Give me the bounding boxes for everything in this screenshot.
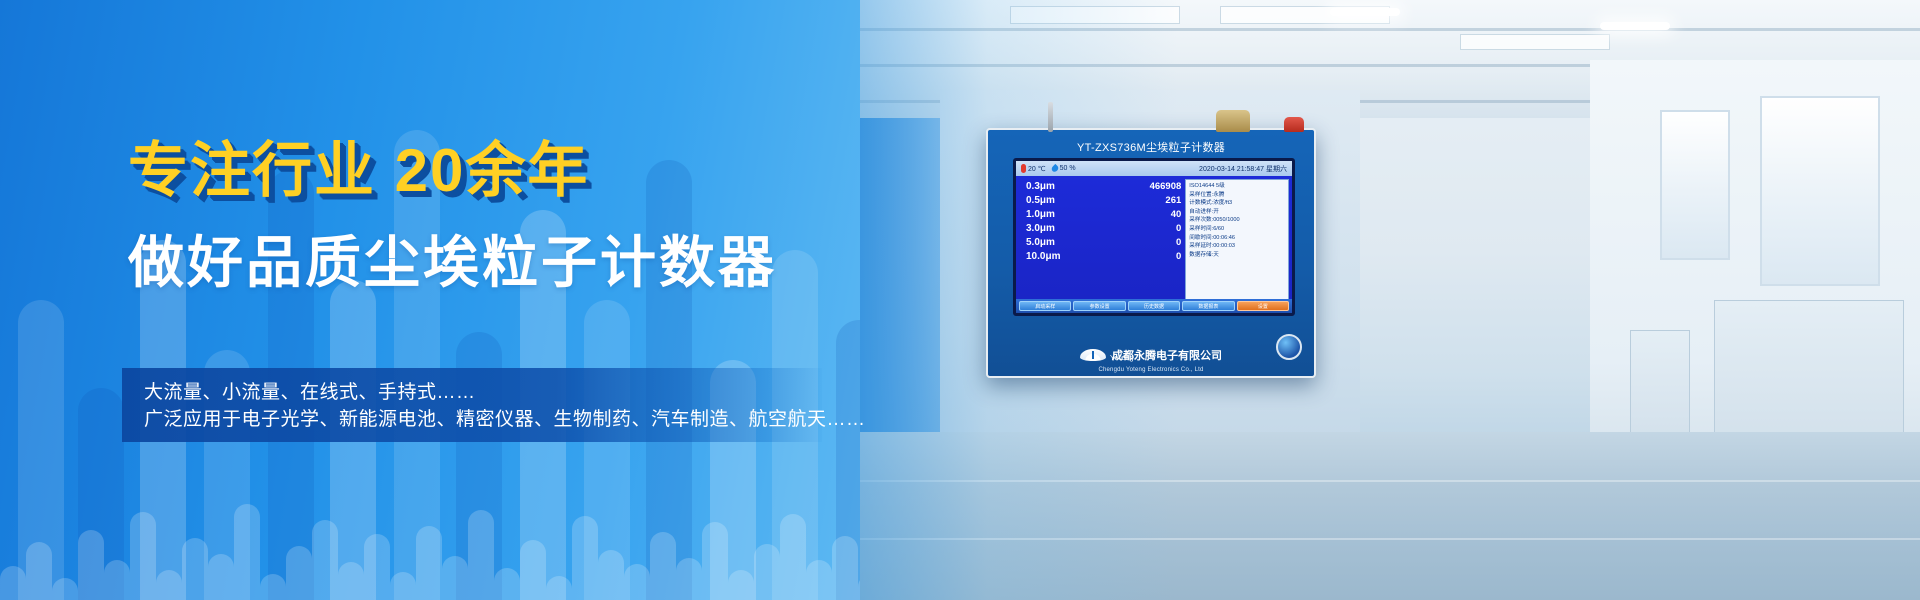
info-panel-row: 采样时间:6/60 bbox=[1189, 225, 1285, 234]
info-panel-row: ISO14644 5级 bbox=[1189, 182, 1285, 191]
particle-count-value: 40 bbox=[1171, 209, 1182, 220]
datetime-readout: 2020-03-14 21:58:47 星期六 bbox=[1199, 164, 1287, 174]
equalizer-bar bbox=[338, 562, 364, 600]
humidity-readout: 50 % bbox=[1052, 165, 1076, 172]
equalizer-bar bbox=[676, 558, 702, 600]
particle-table: 0.3μm4669080.5μm2611.0μm403.0μm05.0μm010… bbox=[1016, 176, 1185, 313]
particle-size-label: 3.0μm bbox=[1026, 223, 1055, 234]
equalizer-bar bbox=[260, 574, 286, 600]
info-line-1: 大流量、小流量、在线式、手持式…… bbox=[144, 379, 822, 406]
particle-size-label: 0.3μm bbox=[1026, 181, 1055, 192]
equalizer-bar bbox=[780, 514, 806, 600]
equalizer-bar bbox=[130, 512, 156, 600]
equalizer-bar bbox=[78, 530, 104, 600]
equalizer-bar bbox=[312, 520, 338, 600]
measurement-info-panel: ISO14644 5级采样位置:永腾计数模式:浓度/ft3自动进样:开采样次数:… bbox=[1185, 179, 1289, 313]
yoteng-logo-icon bbox=[1080, 349, 1106, 361]
device-model-title: YT-ZXS736M尘埃粒子计数器 bbox=[988, 139, 1314, 155]
probe-antenna-icon bbox=[1048, 102, 1053, 132]
equalizer-bar bbox=[598, 550, 624, 600]
equalizer-bar bbox=[182, 538, 208, 600]
equalizer-bar bbox=[520, 540, 546, 600]
brand-logo-text: Yoteng bbox=[1110, 355, 1134, 362]
equalizer-bar bbox=[442, 556, 468, 600]
temperature-readout: 20 ℃ bbox=[1021, 164, 1046, 173]
equalizer-bar bbox=[156, 570, 182, 600]
equalizer-bar bbox=[468, 510, 494, 600]
particle-count-value: 0 bbox=[1176, 223, 1181, 234]
equalizer-bar bbox=[208, 554, 234, 600]
particle-count-value: 0 bbox=[1176, 237, 1181, 248]
screen-toolbar[interactable]: 启动采样参数设置历史数据数据报表设置 bbox=[1016, 299, 1292, 313]
equalizer-bar bbox=[494, 568, 520, 600]
info-line-2: 广泛应用于电子光学、新能源电池、精密仪器、生物制药、汽车制造、航空航天…… bbox=[144, 406, 822, 433]
equalizer-bar bbox=[234, 504, 260, 600]
equalizer-bar bbox=[546, 576, 572, 600]
equalizer-bar bbox=[832, 536, 858, 600]
equalizer-bar bbox=[286, 546, 312, 600]
equalizer-bar bbox=[0, 566, 26, 600]
equalizer-bar bbox=[416, 526, 442, 600]
equalizer-bar bbox=[754, 544, 780, 600]
particle-size-label: 0.5μm bbox=[1026, 195, 1055, 206]
particle-row: 1.0μm40 bbox=[1026, 209, 1181, 220]
particle-size-label: 10.0μm bbox=[1026, 251, 1060, 262]
sensor-head-icon bbox=[1216, 110, 1250, 132]
equalizer-bar bbox=[572, 516, 598, 600]
device-screen[interactable]: 20 ℃ 50 % 2020-03-14 21:58:47 星期六 0.3μm4… bbox=[1013, 158, 1295, 316]
toolbar-button[interactable]: 启动采样 bbox=[1019, 301, 1071, 311]
particle-count-value: 466908 bbox=[1150, 181, 1182, 192]
equalizer-bar bbox=[390, 572, 416, 600]
toolbar-button[interactable]: 参数设置 bbox=[1073, 301, 1125, 311]
particle-row: 3.0μm0 bbox=[1026, 223, 1181, 234]
particle-row: 0.5μm261 bbox=[1026, 195, 1181, 206]
toolbar-button[interactable]: 设置 bbox=[1237, 301, 1289, 311]
screen-status-bar: 20 ℃ 50 % 2020-03-14 21:58:47 星期六 bbox=[1016, 161, 1292, 176]
particle-size-label: 1.0μm bbox=[1026, 209, 1055, 220]
equalizer-bar bbox=[624, 564, 650, 600]
equalizer-bar bbox=[104, 560, 130, 600]
equalizer-bar bbox=[26, 542, 52, 600]
particle-count-value: 261 bbox=[1165, 195, 1181, 206]
decorative-equalizer-strip bbox=[0, 470, 1000, 600]
headline-primary: 专注行业 20余年 bbox=[128, 122, 589, 209]
water-drop-icon bbox=[1050, 164, 1059, 173]
toolbar-button[interactable]: 数据报表 bbox=[1182, 301, 1234, 311]
equalizer-bar bbox=[728, 570, 754, 600]
particle-row: 0.3μm466908 bbox=[1026, 181, 1181, 192]
info-panel-row: 数据存储:天 bbox=[1189, 251, 1285, 260]
particle-size-label: 5.0μm bbox=[1026, 237, 1055, 248]
info-panel-row: 采样位置:永腾 bbox=[1189, 191, 1285, 200]
toolbar-button[interactable]: 历史数据 bbox=[1128, 301, 1180, 311]
promo-banner: 专注行业 20余年 做好品质尘埃粒子计数器 大流量、小流量、在线式、手持式…… … bbox=[0, 0, 1920, 600]
equalizer-bar bbox=[806, 560, 832, 600]
thermometer-icon bbox=[1021, 164, 1026, 173]
alarm-light-icon bbox=[1284, 117, 1304, 132]
device-branding: 成都永腾电子有限公司 bbox=[988, 347, 1314, 363]
feature-info-box: 大流量、小流量、在线式、手持式…… 广泛应用于电子光学、新能源电池、精密仪器、生… bbox=[122, 368, 822, 442]
info-panel-row: 自动进样:开 bbox=[1189, 208, 1285, 217]
power-knob[interactable] bbox=[1276, 334, 1302, 360]
info-panel-row: 采样延时:00:00:03 bbox=[1189, 242, 1285, 251]
particle-counter-device: YT-ZXS736M尘埃粒子计数器 20 ℃ 50 % 2020-03-14 2… bbox=[986, 128, 1316, 378]
humidity-value: 50 % bbox=[1060, 165, 1076, 172]
particle-row: 10.0μm0 bbox=[1026, 251, 1181, 262]
info-panel-row: 间歇时间:00:06:46 bbox=[1189, 234, 1285, 243]
equalizer-bar bbox=[650, 532, 676, 600]
temperature-value: 20 ℃ bbox=[1028, 165, 1046, 173]
equalizer-bar bbox=[52, 578, 78, 600]
particle-count-value: 0 bbox=[1176, 251, 1181, 262]
screen-body: 0.3μm4669080.5μm2611.0μm403.0μm05.0μm010… bbox=[1016, 176, 1292, 313]
equalizer-bar bbox=[364, 534, 390, 600]
info-panel-row: 计数模式:浓度/ft3 bbox=[1189, 199, 1285, 208]
brand-name-en: Chengdu Yoteng Electronics Co., Ltd bbox=[988, 367, 1314, 373]
equalizer-bar bbox=[702, 522, 728, 600]
headline-secondary: 做好品质尘埃粒子计数器 bbox=[128, 218, 777, 299]
particle-row: 5.0μm0 bbox=[1026, 237, 1181, 248]
info-panel-row: 采样次数:0050/1000 bbox=[1189, 216, 1285, 225]
